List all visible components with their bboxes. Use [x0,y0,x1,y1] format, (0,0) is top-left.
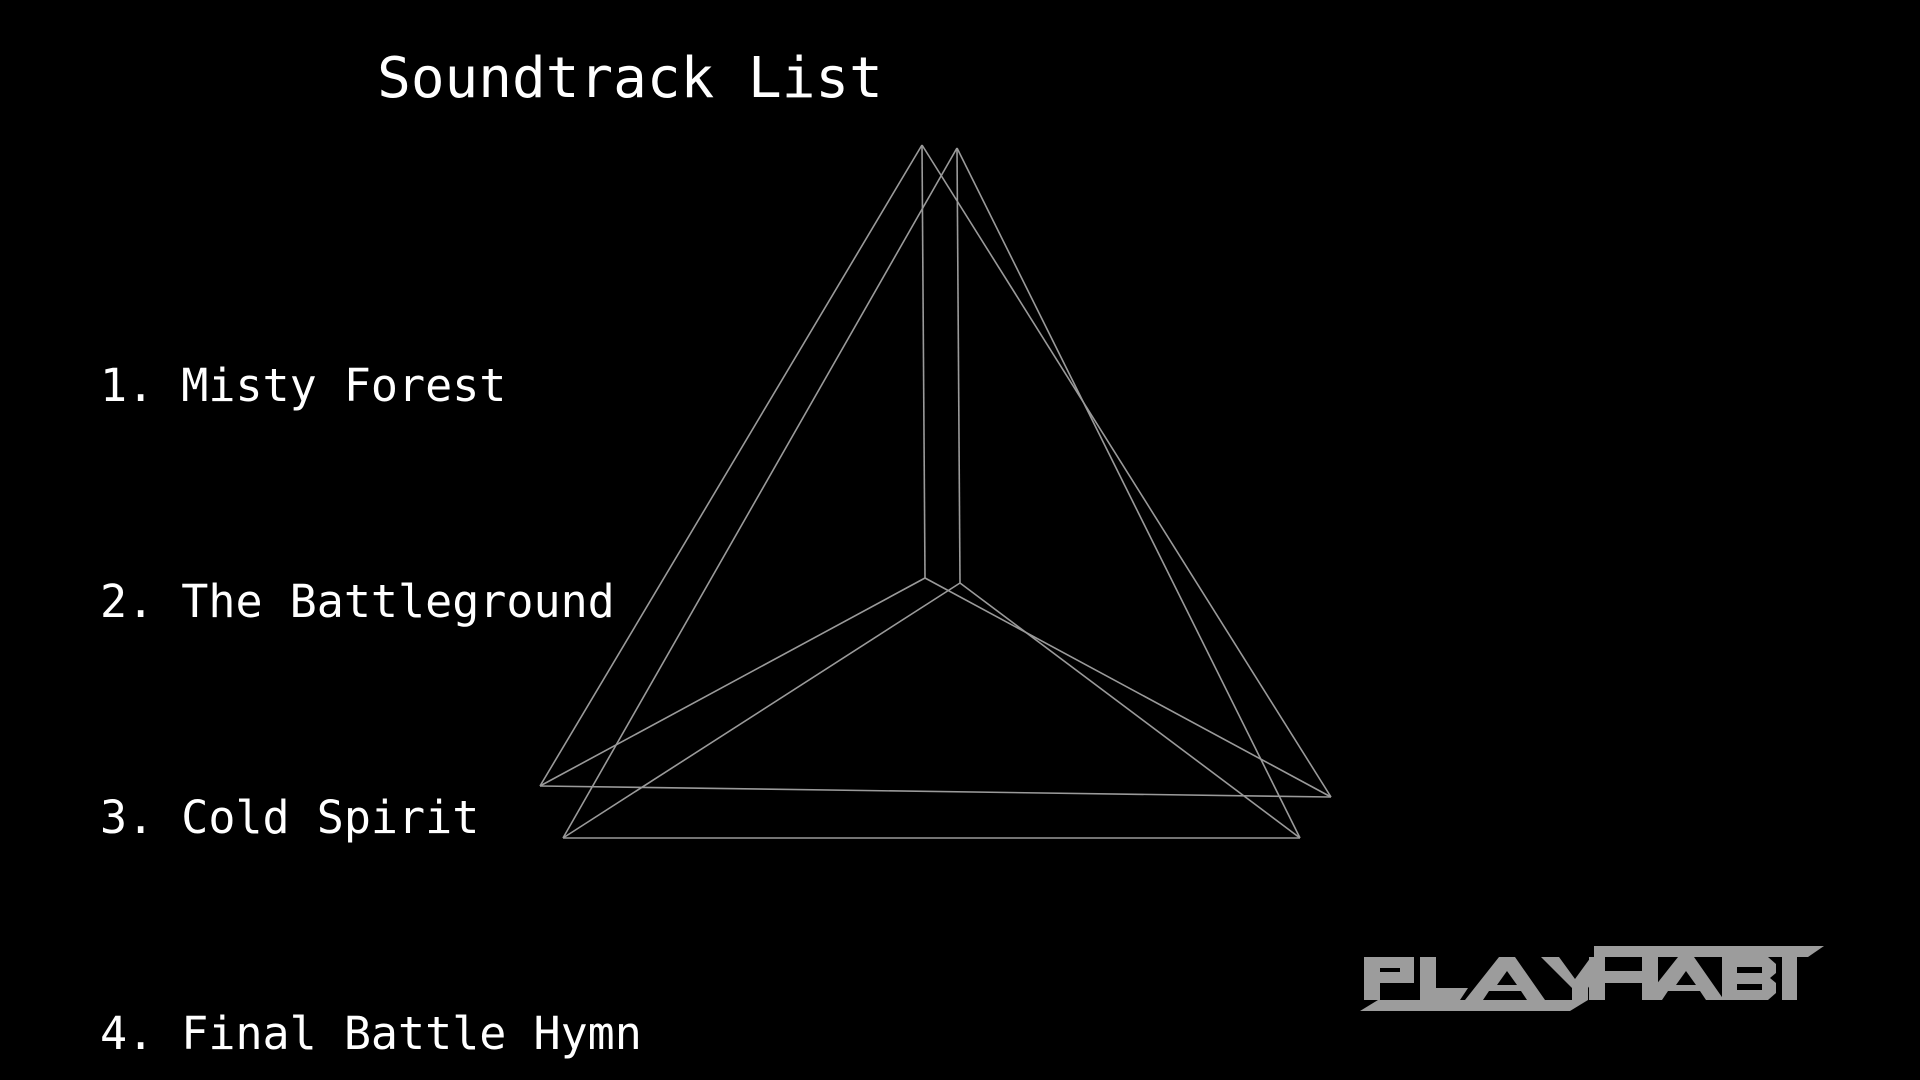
playhabits-logo-icon [1356,938,1826,1018]
soundtrack-list: 1. Misty Forest 2. The Battleground 3. C… [100,206,940,1080]
list-item: 2. The Battleground [100,566,940,638]
list-item: 4. Final Battle Hymn [100,998,940,1070]
page-title: Soundtrack List [0,48,1260,110]
list-item: 3. Cold Spirit [100,782,940,854]
list-item: 1. Misty Forest [100,350,940,422]
playhabits-logo [1356,938,1826,1018]
soundtrack-screen: Soundtrack List 1. Misty Forest 2. The B… [0,0,1920,1080]
